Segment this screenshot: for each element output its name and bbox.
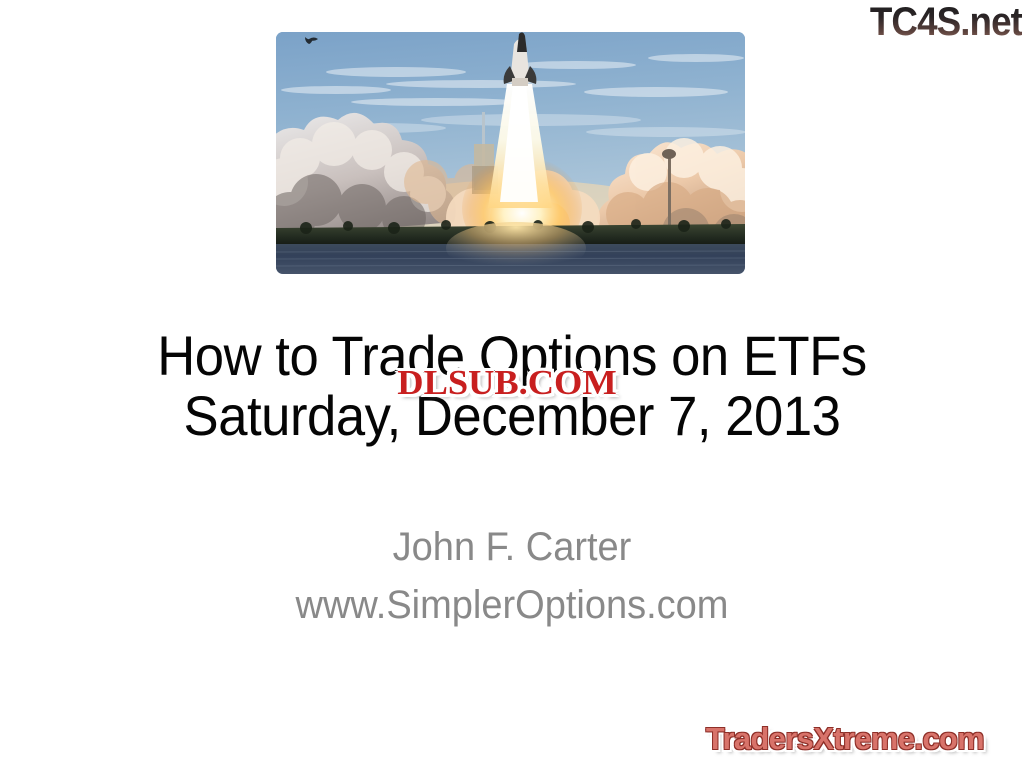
presenter-name: John F. Carter xyxy=(85,518,940,576)
tradersxtreme-watermark: TradersXtreme.com xyxy=(678,718,1013,758)
subtitle: John F. Carter www.SimplerOptions.com xyxy=(62,518,962,634)
presenter-website: www.SimplerOptions.com xyxy=(85,576,940,634)
presentation-slide: TC4S.net xyxy=(0,0,1024,768)
space-shuttle-launch-image xyxy=(276,32,745,274)
launch-photo-artwork xyxy=(276,32,745,274)
dlsub-watermark: DLSUB.COM xyxy=(360,362,653,402)
tc4s-watermark: TC4S.net xyxy=(842,0,1022,44)
